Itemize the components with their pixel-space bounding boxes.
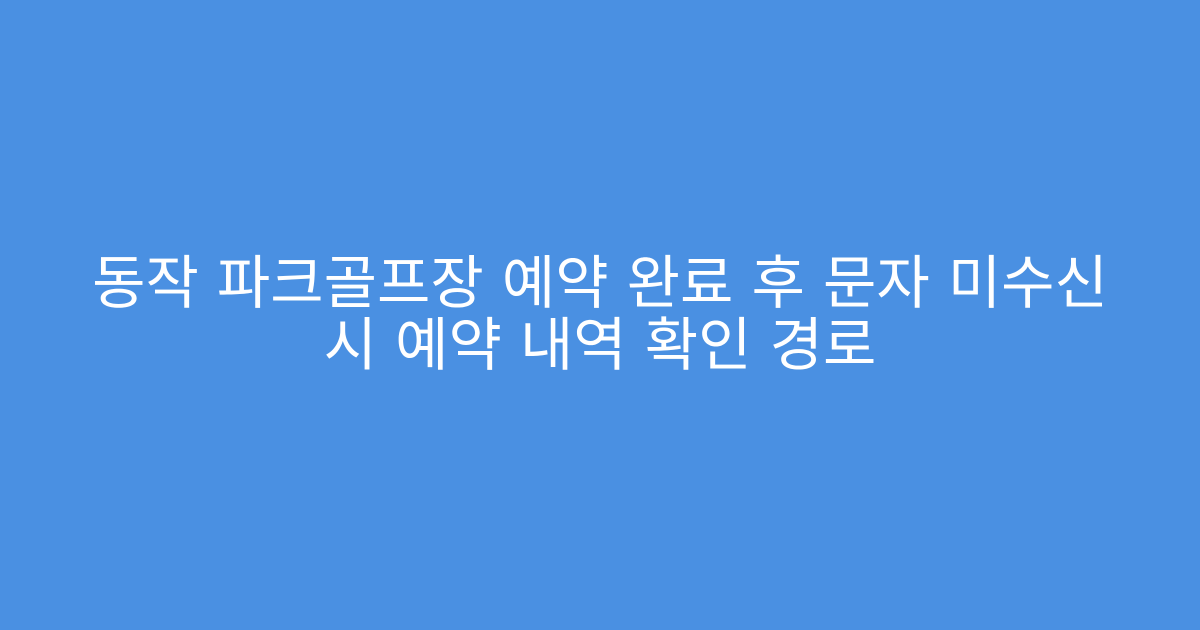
page-title: 동작 파크골프장 예약 완료 후 문자 미수신 시 예약 내역 확인 경로 bbox=[62, 253, 1138, 377]
og-preview-card: 동작 파크골프장 예약 완료 후 문자 미수신 시 예약 내역 확인 경로 bbox=[0, 0, 1200, 630]
